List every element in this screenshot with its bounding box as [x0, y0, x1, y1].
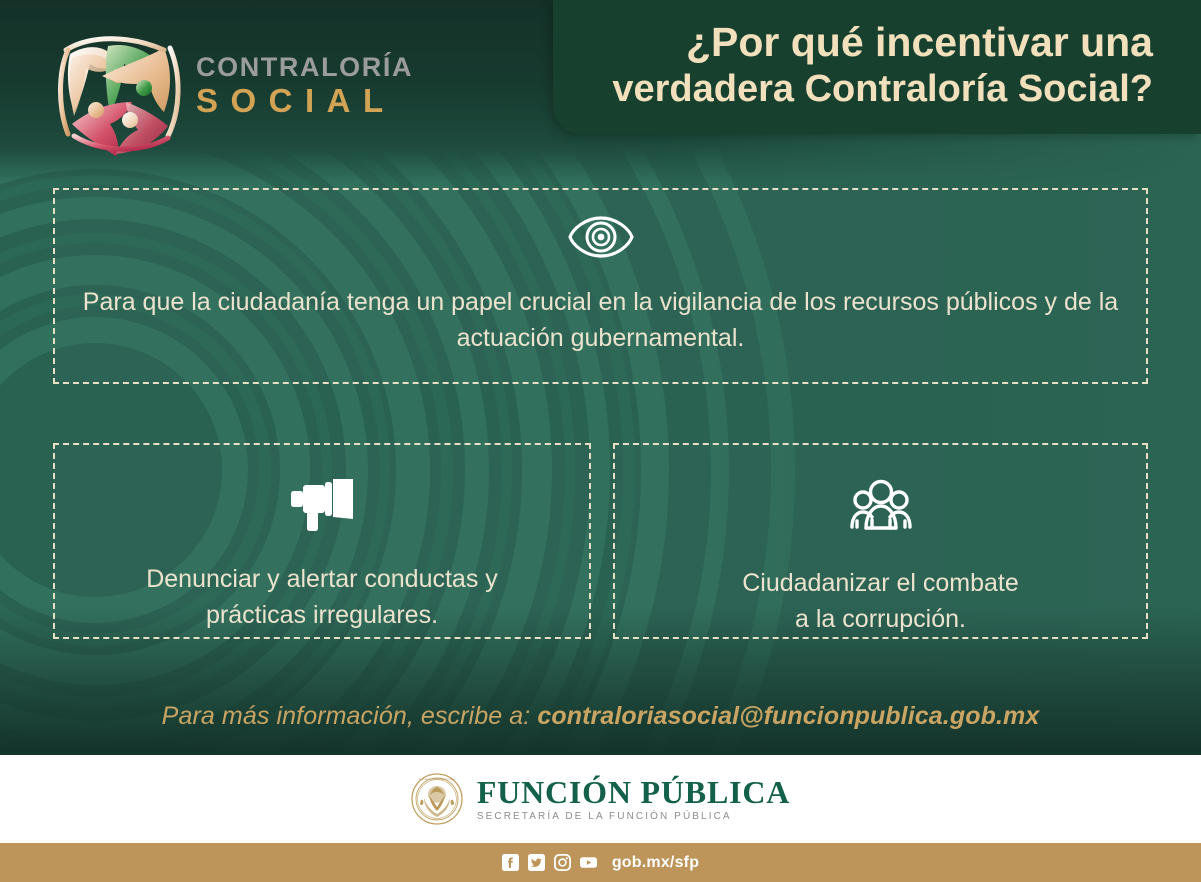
poster-background: CONTRALORÍA SOCIAL ¿Por qué incentivar u…: [0, 0, 1201, 755]
gob-mx-url[interactable]: gob.mx/sfp: [612, 854, 699, 872]
panel-denuncia: Denunciar y alertar conductas y práctica…: [53, 443, 591, 639]
panel-vigilancia: Para que la ciudadanía tenga un papel cr…: [53, 188, 1148, 384]
mexico-coat-of-arms-seal-icon: ESTADOS UNIDOS MEXICANOS: [411, 773, 463, 825]
panel-text-vigilancia: Para que la ciudadanía tenga un papel cr…: [67, 284, 1134, 356]
title-card: ¿Por qué incentivar una verdadera Contra…: [553, 0, 1201, 134]
panel-text-denuncia-line1: Denunciar y alertar conductas y: [146, 565, 498, 593]
footer-lockup: ESTADOS UNIDOS MEXICANOS FUNCIÓN PÚBLICA…: [411, 773, 790, 825]
panel-text-ciudadanizar-line2: a la corrupción.: [795, 605, 966, 633]
footer-org-name: FUNCIÓN PÚBLICA: [477, 775, 790, 809]
footer: ESTADOS UNIDOS MEXICANOS FUNCIÓN PÚBLICA…: [0, 755, 1201, 843]
header: CONTRALORÍA SOCIAL ¿Por qué incentivar u…: [0, 0, 1201, 182]
panel-icon-wrap: [55, 477, 589, 533]
contact-lead-text: Para más información, escribe a:: [162, 702, 538, 730]
contraloria-social-logo-icon: [52, 24, 184, 156]
people-group-icon: [848, 477, 914, 533]
footer-org-subtitle: SECRETARÍA DE LA FUNCIÓN PÚBLICA: [477, 810, 790, 824]
brand-wordmark: CONTRALORÍA SOCIAL: [196, 52, 446, 120]
panel-text-denuncia: Denunciar y alertar conductas y práctica…: [67, 561, 577, 633]
panel-icon-wrap: [615, 477, 1146, 533]
page-title: ¿Por qué incentivar una verdadera Contra…: [553, 20, 1153, 112]
megaphone-icon: [287, 477, 357, 533]
panel-text-ciudadanizar-line1: Ciudadanizar el combate: [742, 569, 1019, 597]
page-title-line1: ¿Por qué incentivar una: [686, 19, 1153, 65]
footer-org-text: FUNCIÓN PÚBLICA SECRETARÍA DE LA FUNCIÓN…: [477, 775, 790, 824]
instagram-icon[interactable]: [554, 854, 571, 871]
page-title-line2: verdadera Contraloría Social?: [612, 68, 1153, 110]
contact-line: Para más información, escribe a: contral…: [0, 702, 1201, 731]
social-bar: gob.mx/sfp: [0, 843, 1201, 882]
brand-line-social: SOCIAL: [196, 82, 446, 120]
svg-text:ESTADOS UNIDOS MEXICANOS: ESTADOS UNIDOS MEXICANOS: [419, 778, 456, 781]
contact-email[interactable]: contraloriasocial@funcionpublica.gob.mx: [537, 702, 1039, 730]
facebook-icon[interactable]: [502, 854, 519, 871]
panel-text-denuncia-line2: prácticas irregulares.: [206, 601, 438, 629]
brand-line-contraloria: CONTRALORÍA: [196, 52, 446, 82]
panel-text-ciudadanizar: Ciudadanizar el combate a la corrupción.: [627, 565, 1134, 637]
youtube-icon[interactable]: [580, 854, 597, 871]
infographic-poster: CONTRALORÍA SOCIAL ¿Por qué incentivar u…: [0, 0, 1201, 882]
panel-ciudadanizar: Ciudadanizar el combate a la corrupción.: [613, 443, 1148, 639]
panel-icon-wrap: [55, 214, 1146, 260]
twitter-icon[interactable]: [528, 854, 545, 871]
eye-icon: [567, 214, 635, 260]
